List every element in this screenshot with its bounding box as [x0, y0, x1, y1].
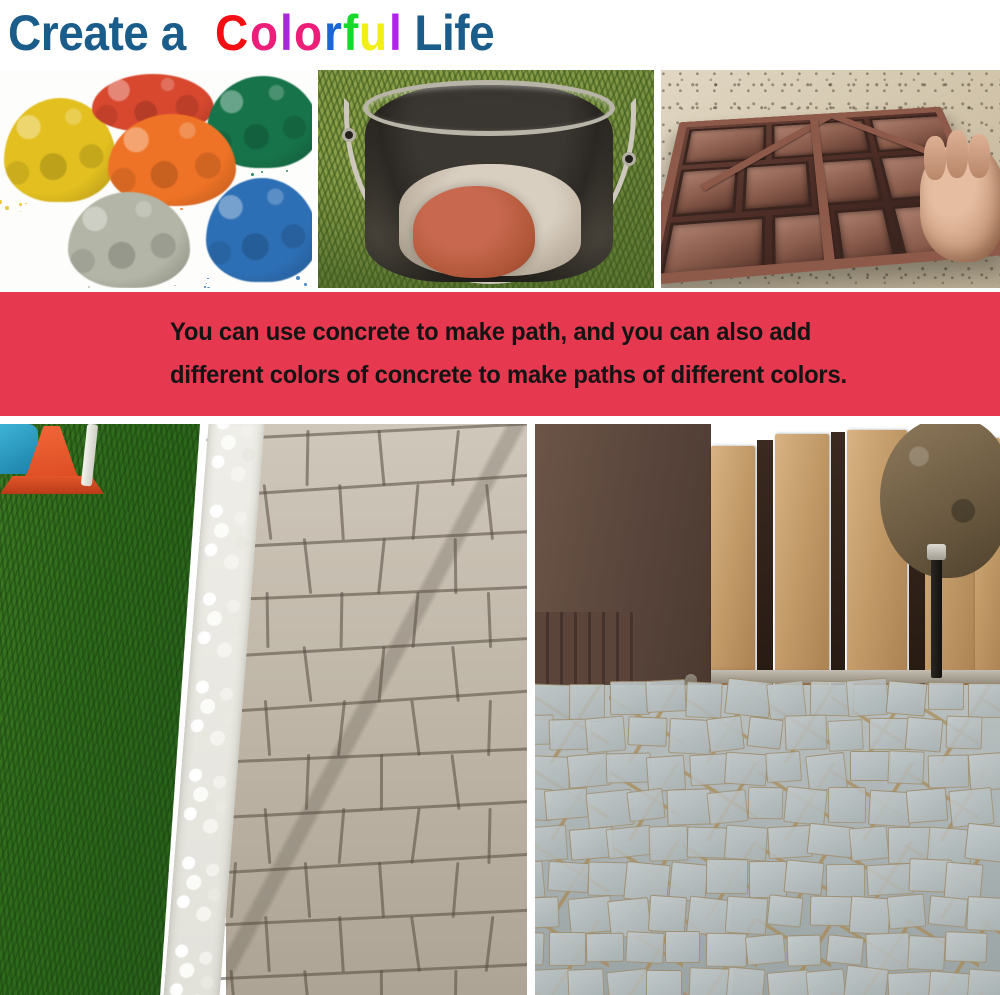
patio-paver	[748, 860, 786, 898]
pigment-speck	[88, 286, 90, 288]
cobblestone-patio	[535, 685, 1000, 995]
patio-paver	[848, 895, 890, 934]
stone-seam-vertical	[377, 646, 385, 702]
stone-pattern	[226, 424, 527, 995]
pigment-speck	[207, 287, 210, 288]
patio-paver	[549, 932, 586, 966]
stone-seam-vertical	[411, 484, 419, 540]
patio-paver	[908, 935, 947, 971]
path-maker-mold-photo	[661, 70, 1000, 288]
patio-paver	[724, 825, 768, 862]
patio-paver	[687, 826, 728, 858]
patio-paver	[967, 968, 1000, 995]
stone-seam-vertical	[266, 592, 270, 648]
patio-paver	[666, 788, 711, 825]
patio-paver	[569, 684, 606, 722]
blue-pigment-pile	[206, 178, 312, 282]
stone-seam-vertical	[305, 754, 311, 810]
patio-paver	[547, 860, 590, 892]
pigment-speck	[174, 285, 176, 287]
patio-paver	[625, 931, 664, 964]
finger-1	[924, 136, 946, 180]
stone-seam-vertical	[337, 700, 347, 756]
stone-seam-horizontal	[206, 852, 527, 876]
patio-paver	[585, 716, 627, 754]
pigment-speck	[207, 278, 209, 280]
title-segment-life: Life	[402, 8, 494, 58]
patio-paver	[945, 931, 988, 962]
patio-paver	[706, 789, 748, 825]
handle-nub-left	[342, 128, 356, 142]
stone-seam-vertical	[340, 592, 344, 648]
stone-seam-vertical	[380, 970, 384, 995]
mold-cell-8	[661, 216, 765, 281]
patio-paver	[535, 932, 544, 966]
patio-paver	[706, 715, 745, 753]
red-info-banner: You can use concrete to make path, and y…	[0, 292, 1000, 416]
patio-paver	[785, 715, 828, 751]
patio-paver	[706, 932, 747, 966]
patio-paver	[585, 933, 623, 963]
stone-seam-horizontal	[206, 585, 527, 603]
patio-paver	[966, 897, 1000, 933]
patio-paver	[886, 893, 926, 929]
patio-paver	[928, 682, 964, 710]
patio-paver	[535, 860, 546, 900]
handle-nub-right	[622, 152, 636, 166]
patio-paver	[535, 897, 560, 929]
stone-seam-vertical	[410, 916, 421, 972]
patio-paver	[606, 968, 651, 995]
patio-paver	[626, 788, 665, 822]
patio-paver	[567, 752, 612, 788]
patio-paver	[746, 716, 783, 750]
stone-seam-vertical	[410, 808, 421, 864]
bucket-mixing-photo	[318, 70, 654, 288]
title-segment-create-a: Create a	[8, 8, 198, 58]
pigment-speck	[251, 173, 254, 176]
garden-path-photo	[0, 424, 527, 995]
pigment-speck	[25, 203, 27, 205]
title-segment-letter-o-2: o	[294, 8, 322, 58]
pigment-speck	[286, 170, 288, 172]
patio-paver	[745, 934, 787, 967]
patio-paver	[868, 790, 912, 828]
finger-2	[946, 130, 968, 178]
product-infographic: Create a Colorful Life	[0, 0, 1000, 995]
pigment-speck	[20, 211, 22, 213]
patio-paver	[928, 895, 969, 927]
title-segment-letter-l-2: l	[389, 8, 401, 58]
patio-paver	[927, 970, 971, 995]
pigment-speck	[0, 200, 2, 204]
patio-paver	[724, 678, 772, 719]
stone-seam-vertical	[303, 646, 313, 702]
patio-paver	[904, 716, 943, 752]
patio-paver	[805, 968, 846, 995]
patio-paver	[887, 751, 924, 786]
red-pigment-slurry	[413, 186, 535, 278]
patio-paver	[706, 859, 748, 895]
stone-seam-vertical	[377, 538, 386, 594]
stone-seam-vertical	[454, 538, 458, 594]
patio-paver	[767, 825, 812, 859]
patio-paver	[646, 969, 682, 995]
patio-paver	[645, 679, 687, 713]
patio-paver	[668, 718, 712, 755]
stone-seam-vertical	[452, 862, 460, 918]
patio-paver	[783, 786, 827, 826]
pigment-speck	[19, 203, 23, 207]
stone-seam-horizontal	[206, 689, 527, 715]
patio-paver	[787, 934, 822, 966]
patio-paver	[567, 968, 604, 995]
stone-seam-vertical	[338, 484, 345, 540]
stone-seam-vertical	[454, 970, 458, 995]
title-segment-letter-f: f	[343, 8, 358, 58]
dark-pole	[931, 552, 942, 678]
stone-seam-horizontal	[206, 962, 527, 981]
patio-paver	[748, 787, 784, 819]
stone-seam-vertical	[338, 916, 345, 972]
pigment-speck	[204, 286, 206, 288]
patio-paver	[606, 824, 654, 859]
bucket-rim	[363, 80, 615, 136]
pigment-powders-photo	[0, 70, 312, 288]
stone-seam-horizontal	[206, 747, 527, 765]
gray-pigment-pile	[68, 192, 190, 288]
patio-paver	[826, 864, 865, 899]
patio-paver	[964, 822, 1000, 863]
stone-seam-vertical	[450, 754, 460, 810]
top-photo-strip	[0, 70, 1000, 288]
patio-paver	[784, 859, 825, 895]
title-segment-letter-o-1: o	[250, 8, 278, 58]
stone-seam-horizontal	[206, 799, 527, 820]
stone-seam-vertical	[377, 430, 386, 486]
banner-line-1: You can use concrete to make path, and y…	[170, 311, 940, 354]
patio-paver	[649, 826, 688, 862]
title-segment-letter-c: C	[215, 8, 248, 58]
patio-paver	[850, 751, 891, 781]
patio-paver	[724, 896, 768, 936]
patio-fence-photo	[535, 424, 1000, 995]
patio-paver	[544, 788, 589, 821]
patio-paver	[968, 751, 1000, 791]
patio-paver	[828, 719, 864, 752]
patio-paver	[946, 716, 983, 750]
patio-paver	[828, 787, 866, 824]
patio-paver	[826, 934, 865, 966]
patio-paver	[848, 826, 888, 862]
pigment-speck	[180, 208, 182, 210]
stone-seam-vertical	[264, 916, 271, 972]
pigment-speck	[261, 171, 263, 173]
stone-seam-vertical	[306, 430, 310, 486]
stone-seam-vertical	[338, 808, 346, 864]
stone-seam-vertical	[378, 862, 385, 918]
patio-paver	[628, 716, 668, 746]
title-segment-letter-l: l	[280, 8, 292, 58]
patio-paver	[646, 755, 687, 793]
patio-paver	[887, 971, 933, 995]
patio-paver	[766, 751, 803, 783]
patio-paver	[906, 787, 948, 823]
pigment-speck	[296, 276, 300, 280]
patio-paver	[843, 965, 888, 995]
banner-line-2: different colors of concrete to make pat…	[170, 354, 940, 397]
pigment-speck	[206, 283, 208, 285]
stone-seam-vertical	[230, 970, 238, 995]
patio-paver	[724, 751, 768, 785]
mold-cell-10	[834, 207, 898, 266]
patio-paver	[865, 932, 910, 971]
page-title: Create a Colorful Life	[0, 0, 1000, 66]
patio-paver	[610, 681, 651, 715]
patio-paver	[606, 753, 652, 784]
patio-paver	[809, 896, 851, 927]
finger-3	[968, 134, 990, 178]
patio-paver	[766, 969, 811, 995]
title-segment-letter-u: u	[359, 8, 387, 58]
patio-paver	[968, 683, 1000, 718]
stone-seam-vertical	[411, 592, 419, 648]
stamped-concrete-path	[226, 424, 527, 995]
stone-seam-vertical	[304, 862, 312, 918]
patio-paver	[928, 755, 969, 789]
stone-seam-vertical	[380, 754, 383, 810]
patio-paver	[665, 931, 700, 963]
stone-seam-vertical	[487, 700, 492, 756]
stone-seam-vertical	[303, 538, 313, 594]
patio-paver	[535, 824, 568, 862]
mold-cell-5	[742, 161, 813, 212]
pigment-speck	[304, 283, 307, 286]
stone-seam-horizontal	[206, 908, 527, 927]
patio-paver	[685, 681, 722, 719]
patio-paver	[806, 823, 854, 859]
patio-paver	[725, 966, 765, 995]
pole-cap	[927, 544, 946, 560]
patio-paver	[866, 863, 913, 897]
patio-paver	[648, 894, 688, 932]
bottom-photo-strip	[0, 424, 1000, 995]
patio-paver	[846, 678, 889, 718]
title-segment-letter-r: r	[324, 8, 341, 58]
patio-paver	[767, 894, 804, 927]
pigment-speck	[5, 206, 9, 210]
stone-seam-vertical	[410, 700, 421, 756]
hand	[920, 144, 1000, 262]
stone-seam-horizontal	[206, 636, 527, 659]
patio-paver	[886, 680, 928, 716]
